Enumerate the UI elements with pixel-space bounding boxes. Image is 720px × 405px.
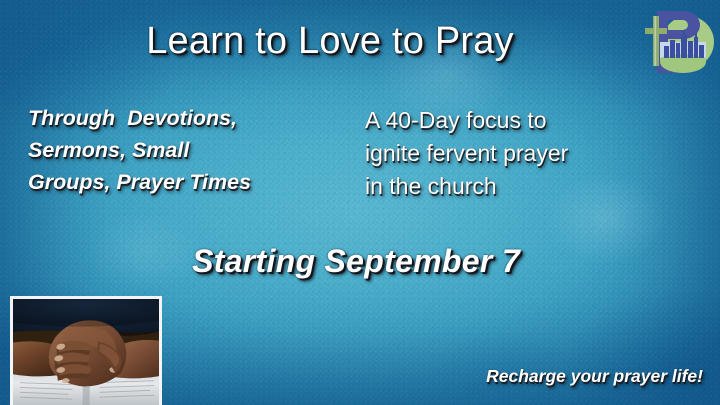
praying-hands-photo bbox=[10, 296, 162, 405]
church-logo-mark bbox=[644, 2, 716, 82]
slide-title: Learn to Love to Pray bbox=[0, 22, 720, 60]
presentation-slide: Learn to Love to Pray Through Devotions,… bbox=[0, 0, 720, 405]
start-date-text: Starting September 7 bbox=[0, 245, 720, 277]
tagline-line-1: Recharge your prayer life! bbox=[323, 364, 703, 389]
tagline-block: Recharge your prayer life! “Devote yours… bbox=[323, 314, 703, 405]
start-date-value: Starting September 7 bbox=[0, 245, 720, 277]
praying-hands-illustration bbox=[13, 299, 159, 405]
methods-text-block: Through Devotions, Sermons, Small Groups… bbox=[28, 103, 251, 198]
purpose-text-block: A 40-Day focus to ignite fervent prayer … bbox=[365, 104, 568, 203]
church-logo bbox=[644, 2, 716, 82]
slide-title-text: Learn to Love to Pray bbox=[0, 22, 720, 60]
